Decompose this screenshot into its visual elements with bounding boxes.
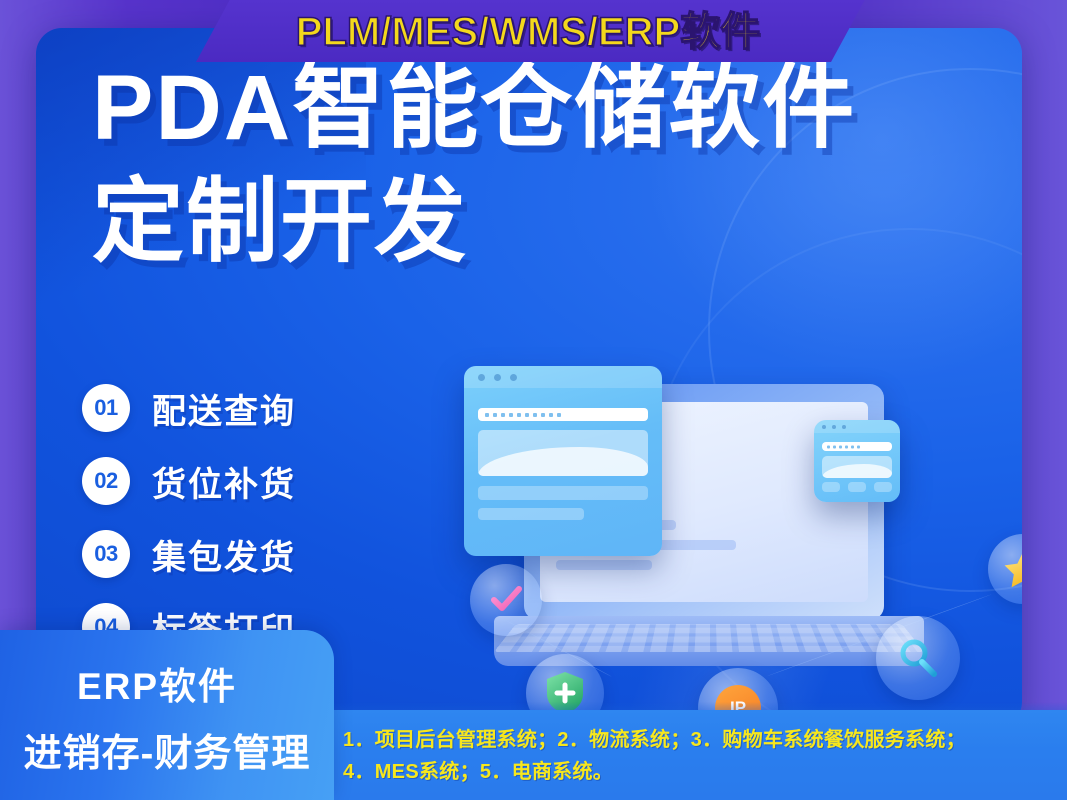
- feature-label: 配送查询: [152, 384, 296, 433]
- feature-list: 01 配送查询 02 货位补货 03 集包发货 04 标签打印: [82, 380, 296, 672]
- feature-number: 03: [82, 530, 130, 578]
- systems-list-line-2: 4．MES系统；5．电商系统。: [343, 755, 1059, 784]
- content-stub: [874, 482, 892, 492]
- list-item[interactable]: 01 配送查询: [82, 380, 296, 436]
- headline-line-1: PDA智能仓储软件: [92, 62, 1022, 154]
- erp-highlight-card: ERP软件 进销存-财务管理: [0, 630, 334, 800]
- address-bar: [822, 442, 892, 451]
- chart-card: [478, 430, 648, 476]
- address-bar: [478, 408, 648, 421]
- window-dot-icon: [478, 374, 485, 381]
- headline-line-2: 定制开发: [92, 176, 1022, 268]
- systems-list-line-1: 1．项目后台管理系统；2．物流系统；3．购物车系统餐饮服务系统；: [343, 723, 1059, 752]
- page-title: PDA智能仓储软件 定制开发: [92, 62, 1022, 268]
- browser-titlebar: [814, 420, 900, 433]
- list-item[interactable]: 02 货位补货: [82, 453, 296, 509]
- content-stub: [478, 508, 584, 520]
- systems-list-panel: 1．项目后台管理系统；2．物流系统；3．购物车系统餐饮服务系统； 4．MES系统…: [333, 710, 1067, 800]
- list-item[interactable]: 03 集包发货: [82, 526, 296, 582]
- poster-stage: PDA智能仓储软件 定制开发 01 配送查询 02 货位补货 03 集包发货 0…: [0, 0, 1067, 800]
- feature-label: 集包发货: [152, 530, 296, 579]
- window-dot-icon: [494, 374, 501, 381]
- feature-number: 01: [82, 384, 130, 432]
- ribbon-text: PLM/MES/WMS/ERP软件: [296, 0, 760, 57]
- search-icon: [895, 635, 941, 681]
- feature-number: 02: [82, 457, 130, 505]
- window-dot-icon: [832, 425, 836, 429]
- content-stub: [478, 486, 648, 500]
- window-dot-icon: [822, 425, 826, 429]
- content-stub: [822, 482, 840, 492]
- erp-card-subtitle: 进销存-财务管理: [0, 722, 334, 777]
- hero-illustration: IP: [436, 358, 1022, 728]
- browser-window-large: [464, 366, 662, 556]
- check-badge: [470, 564, 542, 636]
- window-dot-icon: [842, 425, 846, 429]
- erp-card-title: ERP软件: [0, 656, 314, 710]
- star-badge: [988, 534, 1022, 604]
- browser-window-small: [814, 420, 900, 502]
- star-icon: [1003, 549, 1022, 589]
- main-blue-card: PDA智能仓储软件 定制开发 01 配送查询 02 货位补货 03 集包发货 0…: [36, 28, 1022, 728]
- search-badge: [876, 616, 960, 700]
- check-icon: [486, 580, 526, 620]
- feature-label: 货位补货: [152, 457, 296, 506]
- content-stub: [848, 482, 866, 492]
- chart-card: [822, 456, 892, 478]
- top-ribbon-banner: PLM/MES/WMS/ERP软件: [196, 0, 868, 62]
- window-dot-icon: [510, 374, 517, 381]
